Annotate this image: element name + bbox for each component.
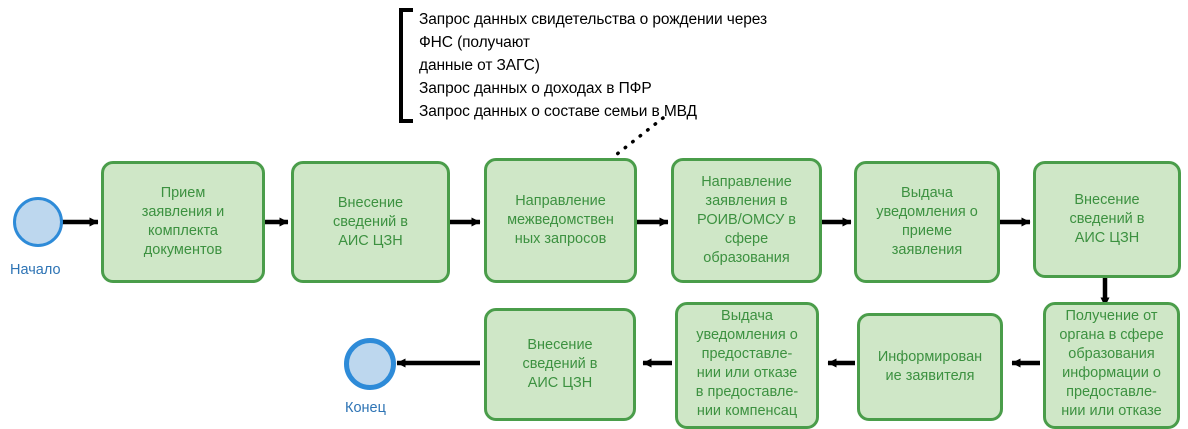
process-node-n5-label: Выдача уведомления о приеме заявления — [857, 184, 997, 260]
process-node-n8[interactable]: Информирован ие заявителя — [857, 313, 1003, 421]
process-node-n5[interactable]: Выдача уведомления о приеме заявления — [854, 161, 1000, 283]
terminator-end-label: Конец — [345, 400, 386, 416]
process-node-n7-label: Получение от органа в сфере образования … — [1046, 305, 1177, 421]
process-node-n1-label: Прием заявления и комплекта документов — [104, 184, 262, 260]
process-node-n3-label: Направление межведомствен ных запросов — [487, 192, 634, 249]
annotation-text: Запрос данных свидетельства о рождении ч… — [413, 8, 799, 123]
process-node-n7[interactable]: Получение от органа в сфере образования … — [1043, 302, 1180, 429]
terminator-start-label: Начало — [10, 262, 61, 278]
process-node-n4-label: Направление заявления в РОИВ/ОМСУ в сфер… — [674, 173, 819, 268]
process-node-n2-label: Внесение сведений в АИС ЦЗН — [294, 194, 447, 251]
annotation-bracket-icon — [399, 8, 413, 123]
annotation-leader-line — [612, 118, 663, 158]
process-node-n4[interactable]: Направление заявления в РОИВ/ОМСУ в сфер… — [671, 158, 822, 283]
terminator-end[interactable] — [344, 338, 396, 390]
annotation-callout: Запрос данных свидетельства о рождении ч… — [399, 8, 799, 123]
process-node-n10[interactable]: Внесение сведений в АИС ЦЗН — [484, 308, 636, 421]
process-node-n2[interactable]: Внесение сведений в АИС ЦЗН — [291, 161, 450, 283]
process-node-n10-label: Внесение сведений в АИС ЦЗН — [487, 336, 633, 393]
process-node-n1[interactable]: Прием заявления и комплекта документов — [101, 161, 265, 283]
process-node-n6[interactable]: Внесение сведений в АИС ЦЗН — [1033, 161, 1181, 278]
process-node-n6-label: Внесение сведений в АИС ЦЗН — [1036, 191, 1178, 248]
terminator-start[interactable] — [13, 197, 63, 247]
process-node-n9-label: Выдача уведомления о предоставле- нии ил… — [678, 305, 816, 421]
process-node-n3[interactable]: Направление межведомствен ных запросов — [484, 158, 637, 283]
process-node-n8-label: Информирован ие заявителя — [860, 348, 1000, 386]
process-node-n9[interactable]: Выдача уведомления о предоставле- нии ил… — [675, 302, 819, 429]
